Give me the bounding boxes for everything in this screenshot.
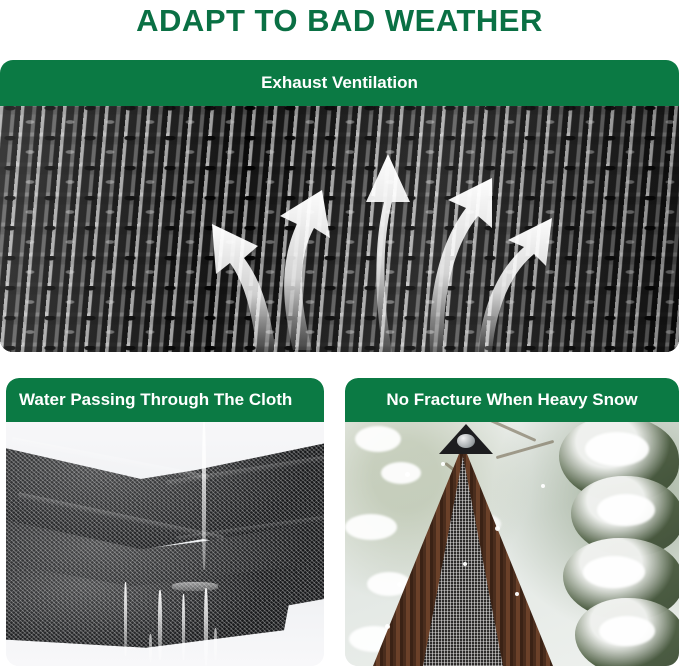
- airflow-arrows-icon: [0, 106, 679, 352]
- panel-bottom-left-label: Water Passing Through The Cloth: [6, 378, 324, 422]
- panel-no-fracture-snow: No Fracture When Heavy Snow: [345, 378, 679, 666]
- water-through-cloth-photo: [6, 422, 324, 666]
- black-mesh-cloth: [6, 422, 324, 666]
- page-title: ADAPT TO BAD WEATHER: [0, 0, 679, 42]
- panel-bottom-right-label: No Fracture When Heavy Snow: [345, 378, 679, 422]
- water-stream: [202, 422, 206, 570]
- panel-water-passing: Water Passing Through The Cloth: [6, 378, 324, 666]
- cover-cap-eyelet: [457, 434, 475, 448]
- snow-cover-photo: [345, 422, 679, 666]
- panel-top-label: Exhaust Ventilation: [0, 60, 679, 106]
- infographic-sheet: ADAPT TO BAD WEATHER Exhaust Ventilation: [0, 0, 679, 670]
- shade-cloth-photo: [0, 106, 679, 352]
- panel-exhaust-ventilation: Exhaust Ventilation: [0, 60, 679, 352]
